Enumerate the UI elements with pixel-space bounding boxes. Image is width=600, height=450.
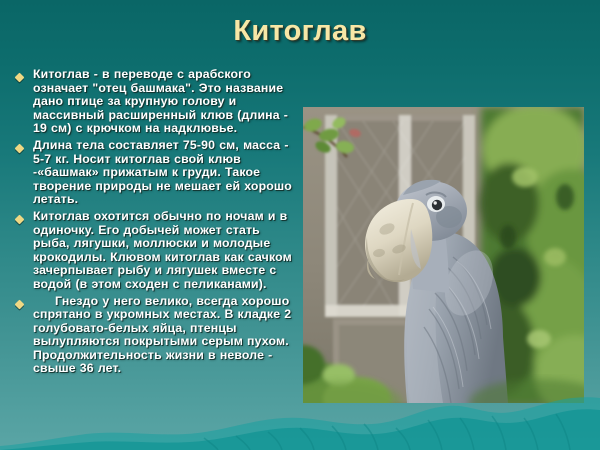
list-item: Длина тела составляет 75-90 см, масса - … <box>12 139 296 207</box>
list-item: Гнездо у него велико, всегда хорошо спря… <box>12 295 296 377</box>
list-item: Китоглав - в переводе с арабского означа… <box>12 68 296 136</box>
diamond-bullet-icon <box>15 144 25 154</box>
diamond-bullet-icon <box>15 214 25 224</box>
slide: Китоглав Китоглав - в переводе с арабско… <box>0 0 600 450</box>
page-title: Китоглав <box>0 14 600 48</box>
list-item-text: Длина тела составляет 75-90 см, масса - … <box>33 139 296 207</box>
diamond-bullet-icon <box>15 73 25 83</box>
list-item-text: Китоглав - в переводе с арабского означа… <box>33 68 296 136</box>
shoebill-stork-photo <box>303 107 584 403</box>
list-item: Китоглав охотится обычно по ночам и в од… <box>12 210 296 292</box>
diamond-bullet-icon <box>15 299 25 309</box>
list-item-text: Китоглав охотится обычно по ночам и в од… <box>33 210 296 292</box>
bullet-list: Китоглав - в переводе с арабского означа… <box>12 68 296 379</box>
list-item-text: Гнездо у него велико, всегда хорошо спря… <box>33 295 296 377</box>
